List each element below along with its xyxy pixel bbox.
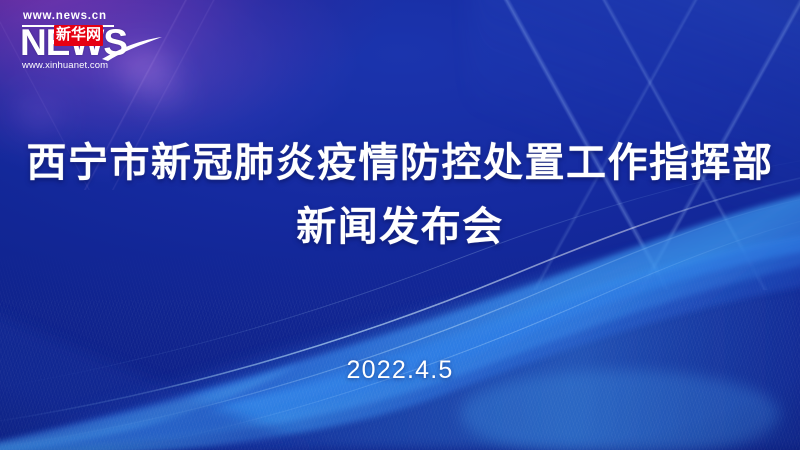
- event-date: 2022.4.5: [0, 356, 800, 385]
- logo-bottom-url-text: www.xinhuanet.com: [22, 60, 108, 71]
- logo-swoosh-icon: [100, 36, 166, 62]
- logo-brand-cn-badge: 新华网: [54, 25, 103, 46]
- logo-brand-cn-text: 新华网: [56, 25, 101, 43]
- press-conference-slide: www.news.cn NEWS 新华网 www.xinhuanet.com 西…: [0, 0, 800, 450]
- slide-title-block: 西宁市新冠肺炎疫情防控处置工作指挥部 新闻发布会: [0, 132, 800, 258]
- slide-title-line-1: 西宁市新冠肺炎疫情防控处置工作指挥部: [0, 132, 800, 194]
- slide-title-line-2: 新闻发布会: [0, 196, 800, 258]
- logo-top-url-text: www.news.cn: [23, 10, 107, 22]
- xinhua-news-logo[interactable]: www.news.cn NEWS 新华网 www.xinhuanet.com: [16, 10, 192, 76]
